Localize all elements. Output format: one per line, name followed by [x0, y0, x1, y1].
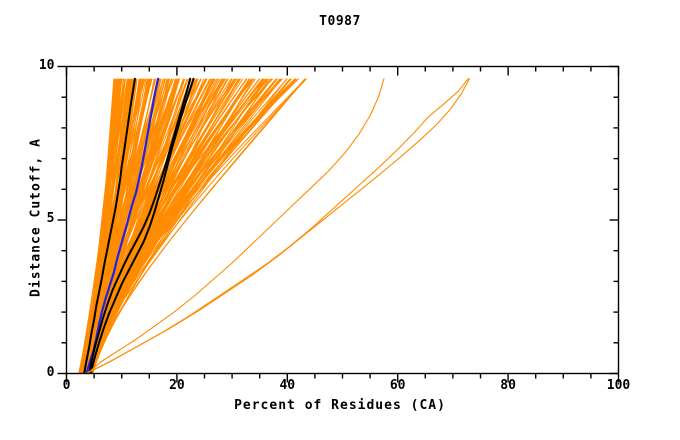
x-tick-label: 60 [368, 378, 428, 393]
x-tick-label: 80 [478, 378, 538, 393]
y-tick-label: 10 [15, 58, 55, 73]
plot-canvas [0, 0, 680, 440]
x-axis-label: Percent of Residues (CA) [0, 398, 680, 413]
x-tick-label: 20 [147, 378, 207, 393]
x-tick-label: 0 [37, 378, 97, 393]
y-tick-label: 0 [15, 365, 55, 380]
x-tick-label: 40 [257, 378, 317, 393]
curves-group [79, 79, 470, 374]
plot-figure: T0987 Distance Cutoff, A Percent of Resi… [0, 0, 680, 440]
x-tick-label: 100 [589, 378, 649, 393]
chart-title: T0987 [0, 14, 680, 29]
y-tick-label: 5 [15, 211, 55, 226]
